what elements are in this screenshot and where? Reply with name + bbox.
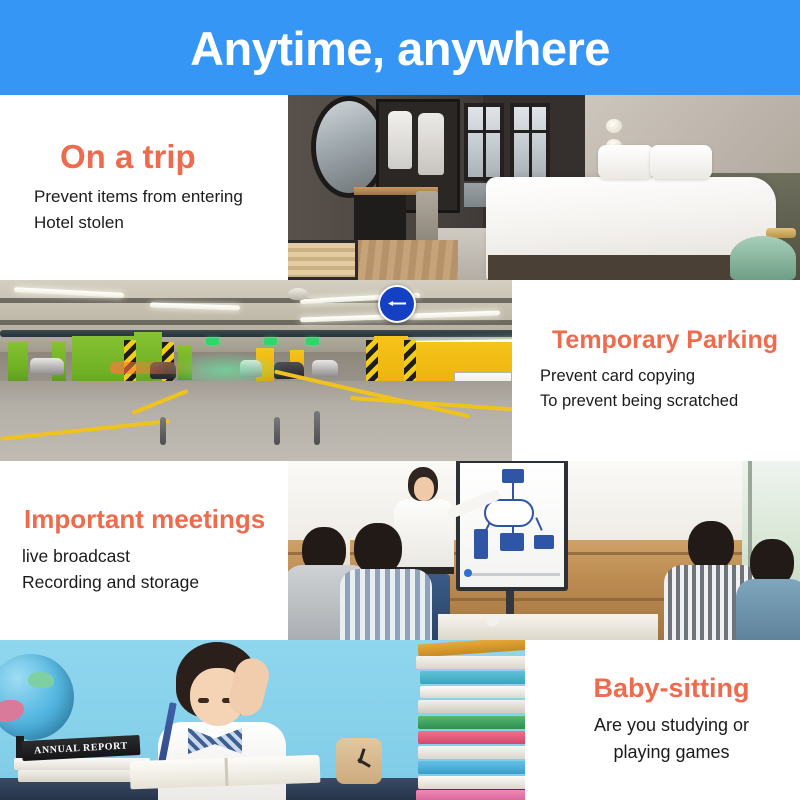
child-eye [198,698,209,703]
bollard [160,417,166,445]
pillow [650,145,712,179]
stacked-book [418,761,540,774]
bed-base [488,255,758,280]
diagram-server-icon [474,529,488,559]
bathrobe [418,113,444,175]
text-panel-on-a-trip: On a trip Prevent items from entering Ho… [0,95,288,280]
bollard [274,417,280,445]
page-title: Anytime, anywhere [190,25,610,72]
whiteboard-tray [464,573,560,576]
stacked-book [418,746,540,759]
parked-car [30,358,64,375]
section-heading: Important meetings [22,505,286,534]
ceiling-beam [0,298,520,303]
stacked-book [416,656,540,669]
stacked-book [18,770,148,782]
hotel-room-photo [288,95,800,280]
window [510,103,550,181]
attendee-head [354,523,402,575]
section-heading: Baby-sitting [543,674,800,704]
child-studying-illustration: ANNUAL REPORT [0,640,540,800]
stacked-book [418,716,540,729]
wooden-clock [336,738,382,784]
exit-sign [206,338,219,345]
security-camera [288,288,308,300]
hotel-room-illustration [288,95,800,280]
child-studying-photo: ANNUAL REPORT [0,640,540,800]
bathrobe [388,111,412,169]
section-body: Prevent card copying To prevent being sc… [540,364,800,414]
bollard [314,411,320,445]
section-temporary-parking: Temporary Parking Prevent card copying T… [0,280,800,461]
meeting-room-photo [288,461,800,640]
direction-arrow-sign [378,285,416,323]
parking-garage-photo [0,280,520,461]
attendee-body [340,569,432,640]
book-tower [410,640,540,800]
diagram-cloud-icon [484,499,534,527]
section-heading: On a trip [34,139,288,175]
presenter-face [414,477,434,501]
coffee-cup [486,615,499,626]
diagram-connector [535,517,543,531]
text-panel-important-meetings: Important meetings live broadcast Record… [0,461,286,640]
annual-report-label: ANNUAL REPORT [34,740,128,756]
wall-lamp [606,119,622,133]
ceiling-beam [0,320,520,325]
whiteboard-marker-dot [464,569,472,577]
parking-garage-illustration [0,280,520,461]
exit-sign [264,338,277,345]
stacked-book [420,686,540,698]
section-heading: Temporary Parking [540,327,800,355]
diagram-laptop-icon [502,469,524,483]
diagram-monitor-icon [500,533,524,551]
green-pillar [8,342,28,386]
side-table [730,236,796,280]
section-on-a-trip: On a trip Prevent items from entering Ho… [0,95,800,280]
section-body: live broadcast Recording and storage [22,543,286,596]
section-important-meetings: Important meetings live broadcast Record… [0,461,800,640]
parked-car [312,360,338,377]
exit-sign [306,338,319,345]
text-panel-baby-sitting: Baby-sitting Are you studying or playing… [525,640,800,800]
diagram-laptop-icon [534,535,554,549]
stacked-book [418,700,540,713]
pillow [598,145,654,179]
light-trail [110,362,200,374]
stacked-book [418,640,540,657]
wood-floor [348,240,458,280]
meeting-room-illustration [288,461,800,640]
section-baby-sitting: ANNUAL REPORT [0,640,800,800]
attendee-head [688,521,734,571]
text-panel-temporary-parking: Temporary Parking Prevent card copying T… [512,280,800,461]
window [464,103,504,181]
attendee-body [736,579,800,640]
stacked-book [420,671,540,684]
stacked-book [418,731,540,744]
section-body: Prevent items from entering Hotel stolen [34,184,288,236]
stacked-book [418,776,540,789]
header-banner: Anytime, anywhere [0,0,800,95]
meeting-table [438,614,658,640]
presenter-shirt [394,499,454,571]
section-body: Are you studying or playing games [543,712,800,766]
globe [0,654,74,740]
luggage-rack [288,240,358,280]
stacked-book [416,790,540,800]
garage-floor [0,381,520,461]
round-mirror [316,101,382,193]
promo-page: Anytime, anywhere [0,0,800,800]
